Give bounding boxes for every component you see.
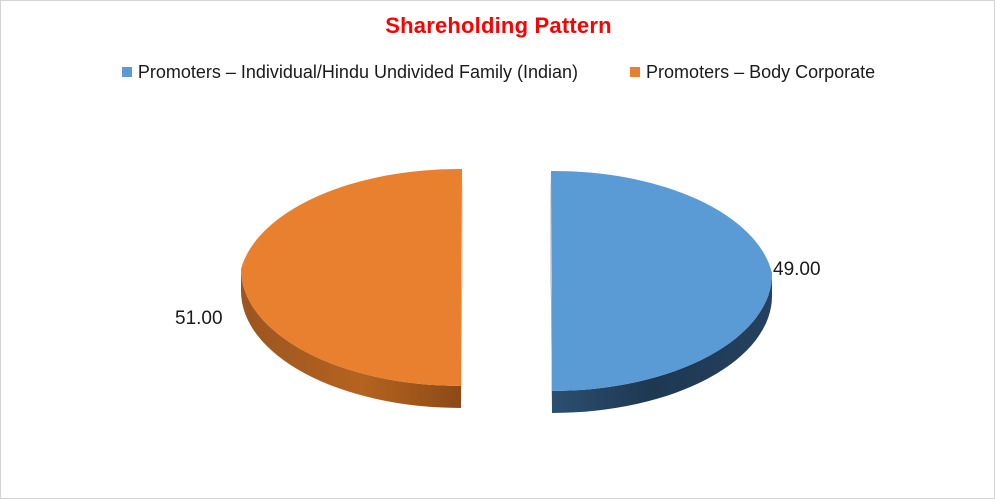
chart-legend: Promoters – Individual/Hindu Undivided F… [1, 63, 995, 81]
pie-slice-orange-top [241, 169, 462, 386]
pie-svg [1, 101, 995, 481]
pie-slice-promoters-body-corporate[interactable] [241, 169, 463, 408]
pie-slice-promoters-individual[interactable] [550, 171, 772, 413]
chart-title: Shareholding Pattern [1, 13, 995, 39]
legend-item-promoters-individual[interactable]: Promoters – Individual/Hindu Undivided F… [122, 63, 578, 81]
data-label-promoters-body-corporate: 51.00 [175, 308, 223, 330]
legend-item-promoters-body-corporate[interactable]: Promoters – Body Corporate [630, 63, 875, 81]
pie-slice-blue-top [551, 171, 772, 391]
pie-chart-canvas: Shareholding Pattern Promoters – Individ… [0, 0, 995, 499]
legend-swatch-promoters-individual [122, 67, 132, 77]
legend-label-promoters-individual: Promoters – Individual/Hindu Undivided F… [138, 63, 578, 81]
legend-swatch-promoters-body-corporate [630, 67, 640, 77]
data-label-promoters-individual: 49.00 [773, 259, 821, 281]
pie-plot-area: 49.00 51.00 [1, 101, 995, 481]
legend-label-promoters-body-corporate: Promoters – Body Corporate [646, 63, 875, 81]
